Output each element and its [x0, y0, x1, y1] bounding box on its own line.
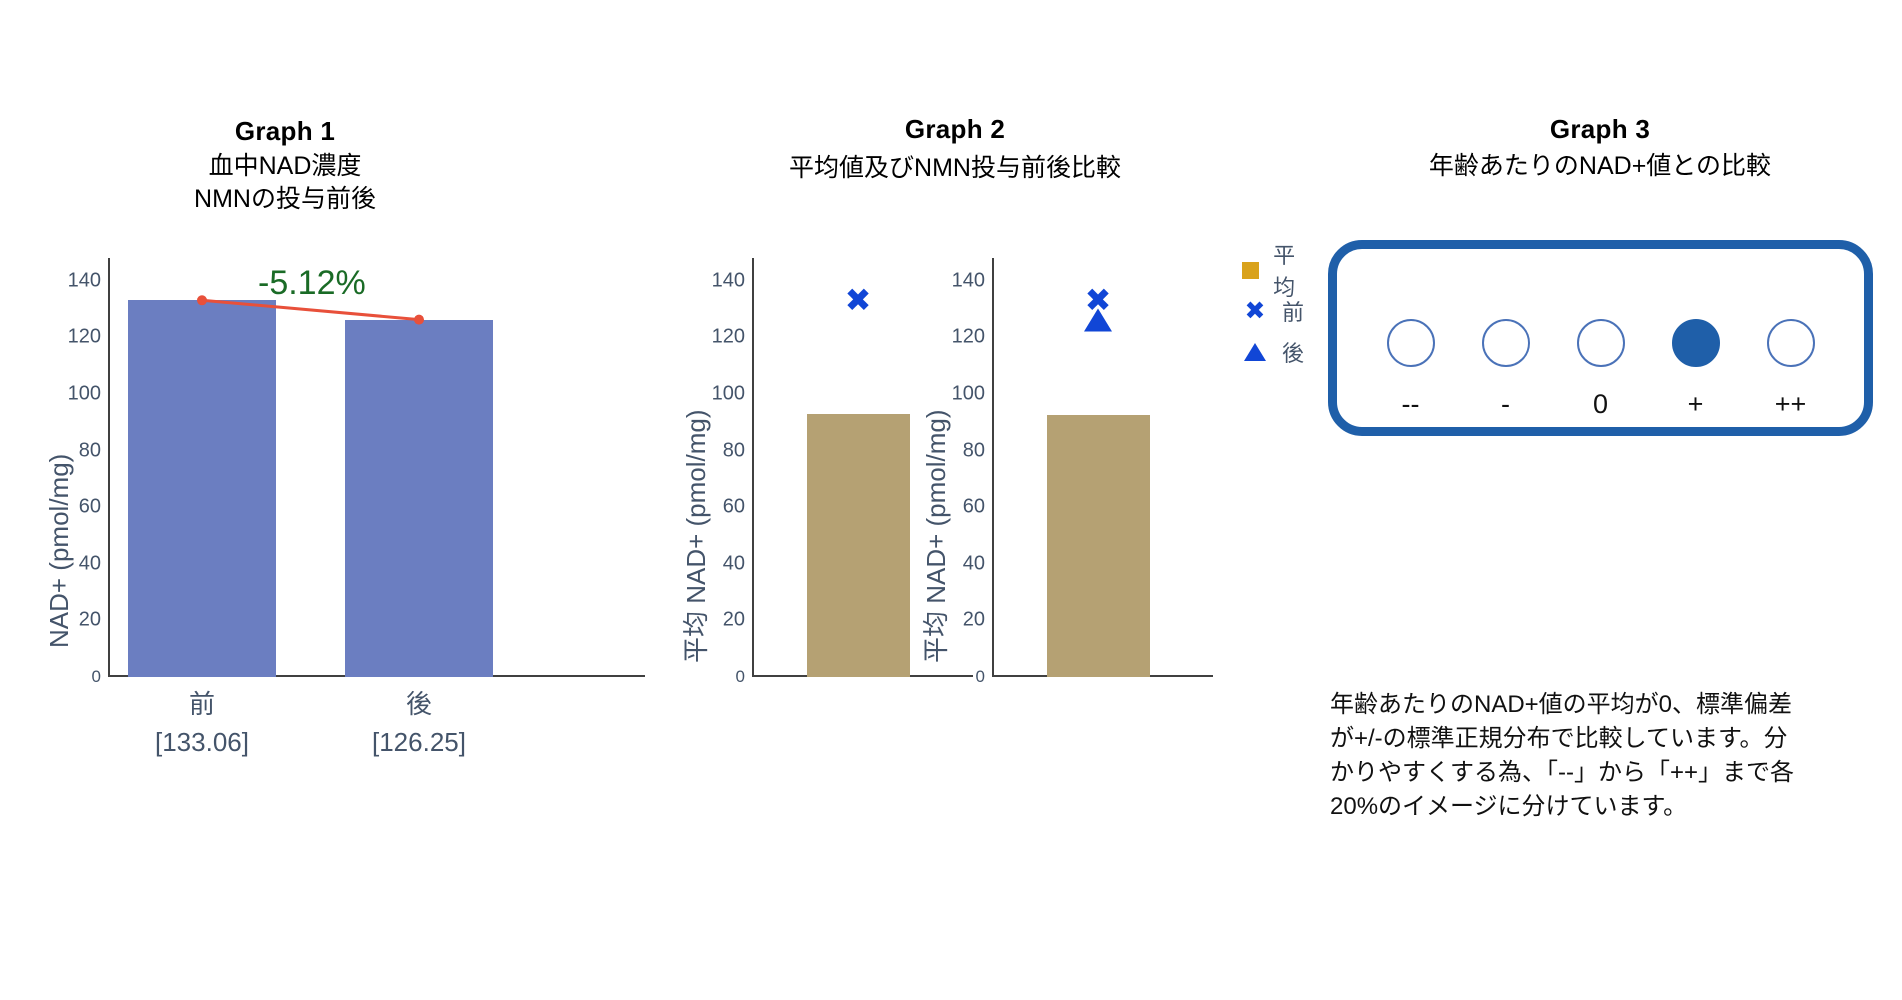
graph3-note: 年齢あたりのNAD+値の平均が0、標準偏差が+/-の標準正規分布で比較しています…: [1330, 688, 1800, 824]
graph2-legend-item-mean[interactable]: 平均: [1240, 253, 1304, 287]
graph2-right-y-axis-label: 平均 NAD+ (pmol/mg): [916, 409, 953, 663]
graph1-ytick-40: 40: [79, 552, 101, 575]
graph1-ytick-100: 100: [68, 383, 101, 406]
graph1-subtitle-line1: 血中NAD濃度: [110, 150, 460, 183]
graph3-dot-minus[interactable]: [1482, 319, 1530, 367]
graph1-ytick-20: 20: [79, 609, 101, 632]
graph1-ytick-80: 80: [79, 439, 101, 462]
graph3-dot-minusminus[interactable]: [1387, 319, 1435, 367]
graph2-right-plot: 0 20 40 60 80 100 120 140 平均 NAD+ (pmol/…: [992, 258, 1213, 677]
graph2-left-bar-mean: [807, 414, 910, 677]
graph2-left-ytick-100: 100: [712, 383, 745, 406]
graph2-subtitle: 平均値及びNMN投与前後比較: [700, 152, 1210, 185]
graph2-right-y-axis: [992, 258, 994, 677]
graph2-right-ytick-40: 40: [963, 552, 985, 575]
graph3-dot-plusplus[interactable]: [1767, 319, 1815, 367]
graph2-legend-item-after[interactable]: 後: [1240, 335, 1304, 369]
graph1-ytick-140: 140: [68, 269, 101, 292]
graph3-label-plusplus: ++: [1767, 389, 1815, 420]
graph1-xcat-after: 後 [126.25]: [345, 686, 493, 761]
graph2-right-ytick-60: 60: [963, 496, 985, 519]
x-marker-icon: ✖: [1240, 299, 1270, 324]
graph2-right-ytick-80: 80: [963, 439, 985, 462]
graph3-dot-zero[interactable]: [1577, 319, 1625, 367]
graph2-left-y-axis-label: 平均 NAD+ (pmol/mg): [676, 409, 713, 663]
graph2-left-ytick-120: 120: [712, 326, 745, 349]
graph1-xcat-before-name: 前: [189, 689, 215, 719]
graph2-right-ytick-120: 120: [952, 326, 985, 349]
graph1-ytick-120: 120: [68, 326, 101, 349]
graph3-subtitle: 年齢あたりのNAD+値との比較: [1340, 150, 1860, 183]
graph1-change-label: -5.12%: [258, 264, 366, 303]
graph1-ytick-60: 60: [79, 496, 101, 519]
graph1-ytick-0: 0: [92, 667, 101, 687]
graph2-left-ytick-20: 20: [723, 609, 745, 632]
graph3-scale-box: -- - 0 + ++: [1328, 240, 1873, 436]
graph1-y-axis-label: NAD+ (pmol/mg): [44, 454, 75, 648]
graph1-xcat-after-name: 後: [406, 689, 432, 719]
graph2-title: Graph 2: [740, 114, 1170, 145]
square-marker-icon: [1240, 262, 1261, 279]
graph2-right-ytick-20: 20: [963, 609, 985, 632]
graph2-left-ytick-40: 40: [723, 552, 745, 575]
graph3-dot-plus[interactable]: [1672, 319, 1720, 367]
graph2-legend: 平均 ✖ 前 後: [1240, 253, 1304, 376]
graph3-panel: Graph 3 年齢あたりのNAD+値との比較 -- - 0 + ++ 年齢あた…: [1300, 0, 1902, 1000]
graph1-trend-line: [108, 258, 645, 677]
graph2-left-ytick-60: 60: [723, 496, 745, 519]
graph3-label-minusminus: --: [1387, 389, 1435, 420]
graph3-title: Graph 3: [1380, 114, 1820, 145]
graph2-left-ytick-80: 80: [723, 439, 745, 462]
graph3-label-zero: 0: [1577, 389, 1625, 420]
graph2-right-ytick-100: 100: [952, 383, 985, 406]
graph3-dot-row: [1337, 319, 1864, 367]
graph1-subtitle-line2: NMNの投与前後: [110, 183, 460, 216]
graph2-left-ytick-0: 0: [736, 667, 745, 687]
graph3-label-plus: +: [1672, 389, 1720, 420]
graph2-left-marker-before: ✖: [845, 284, 872, 316]
graph1-plot: 0 20 40 60 80 100 120 140 NAD+ (pmol/mg)…: [108, 258, 645, 677]
graph2-panel: Graph 2 平均値及びNMN投与前後比較 0 20 40 60 80 100…: [640, 0, 1300, 1000]
graph1-xcat-before-value: [133.06]: [128, 724, 276, 762]
graph2-right-ytick-140: 140: [952, 269, 985, 292]
graph2-right-ytick-0: 0: [976, 667, 985, 687]
graph2-right-marker-after: [1084, 308, 1112, 331]
graph1-xcat-after-value: [126.25]: [345, 724, 493, 762]
graph2-left-y-axis: [752, 258, 754, 677]
graph1-panel: Graph 1 血中NAD濃度 NMNの投与前後 0 20 40 60 80 1…: [0, 0, 640, 1000]
graph3-label-row: -- - 0 + ++: [1337, 389, 1864, 420]
graph1-xcat-before: 前 [133.06]: [128, 686, 276, 761]
graph3-label-minus: -: [1482, 389, 1530, 420]
graph2-right-bar-mean: [1047, 415, 1150, 677]
graph2-legend-item-before[interactable]: ✖ 前: [1240, 294, 1304, 328]
graph1-subtitle: 血中NAD濃度 NMNの投与前後: [110, 150, 460, 216]
graph1-title: Graph 1: [120, 116, 450, 147]
triangle-marker-icon: [1240, 343, 1270, 361]
graph2-left-ytick-140: 140: [712, 269, 745, 292]
